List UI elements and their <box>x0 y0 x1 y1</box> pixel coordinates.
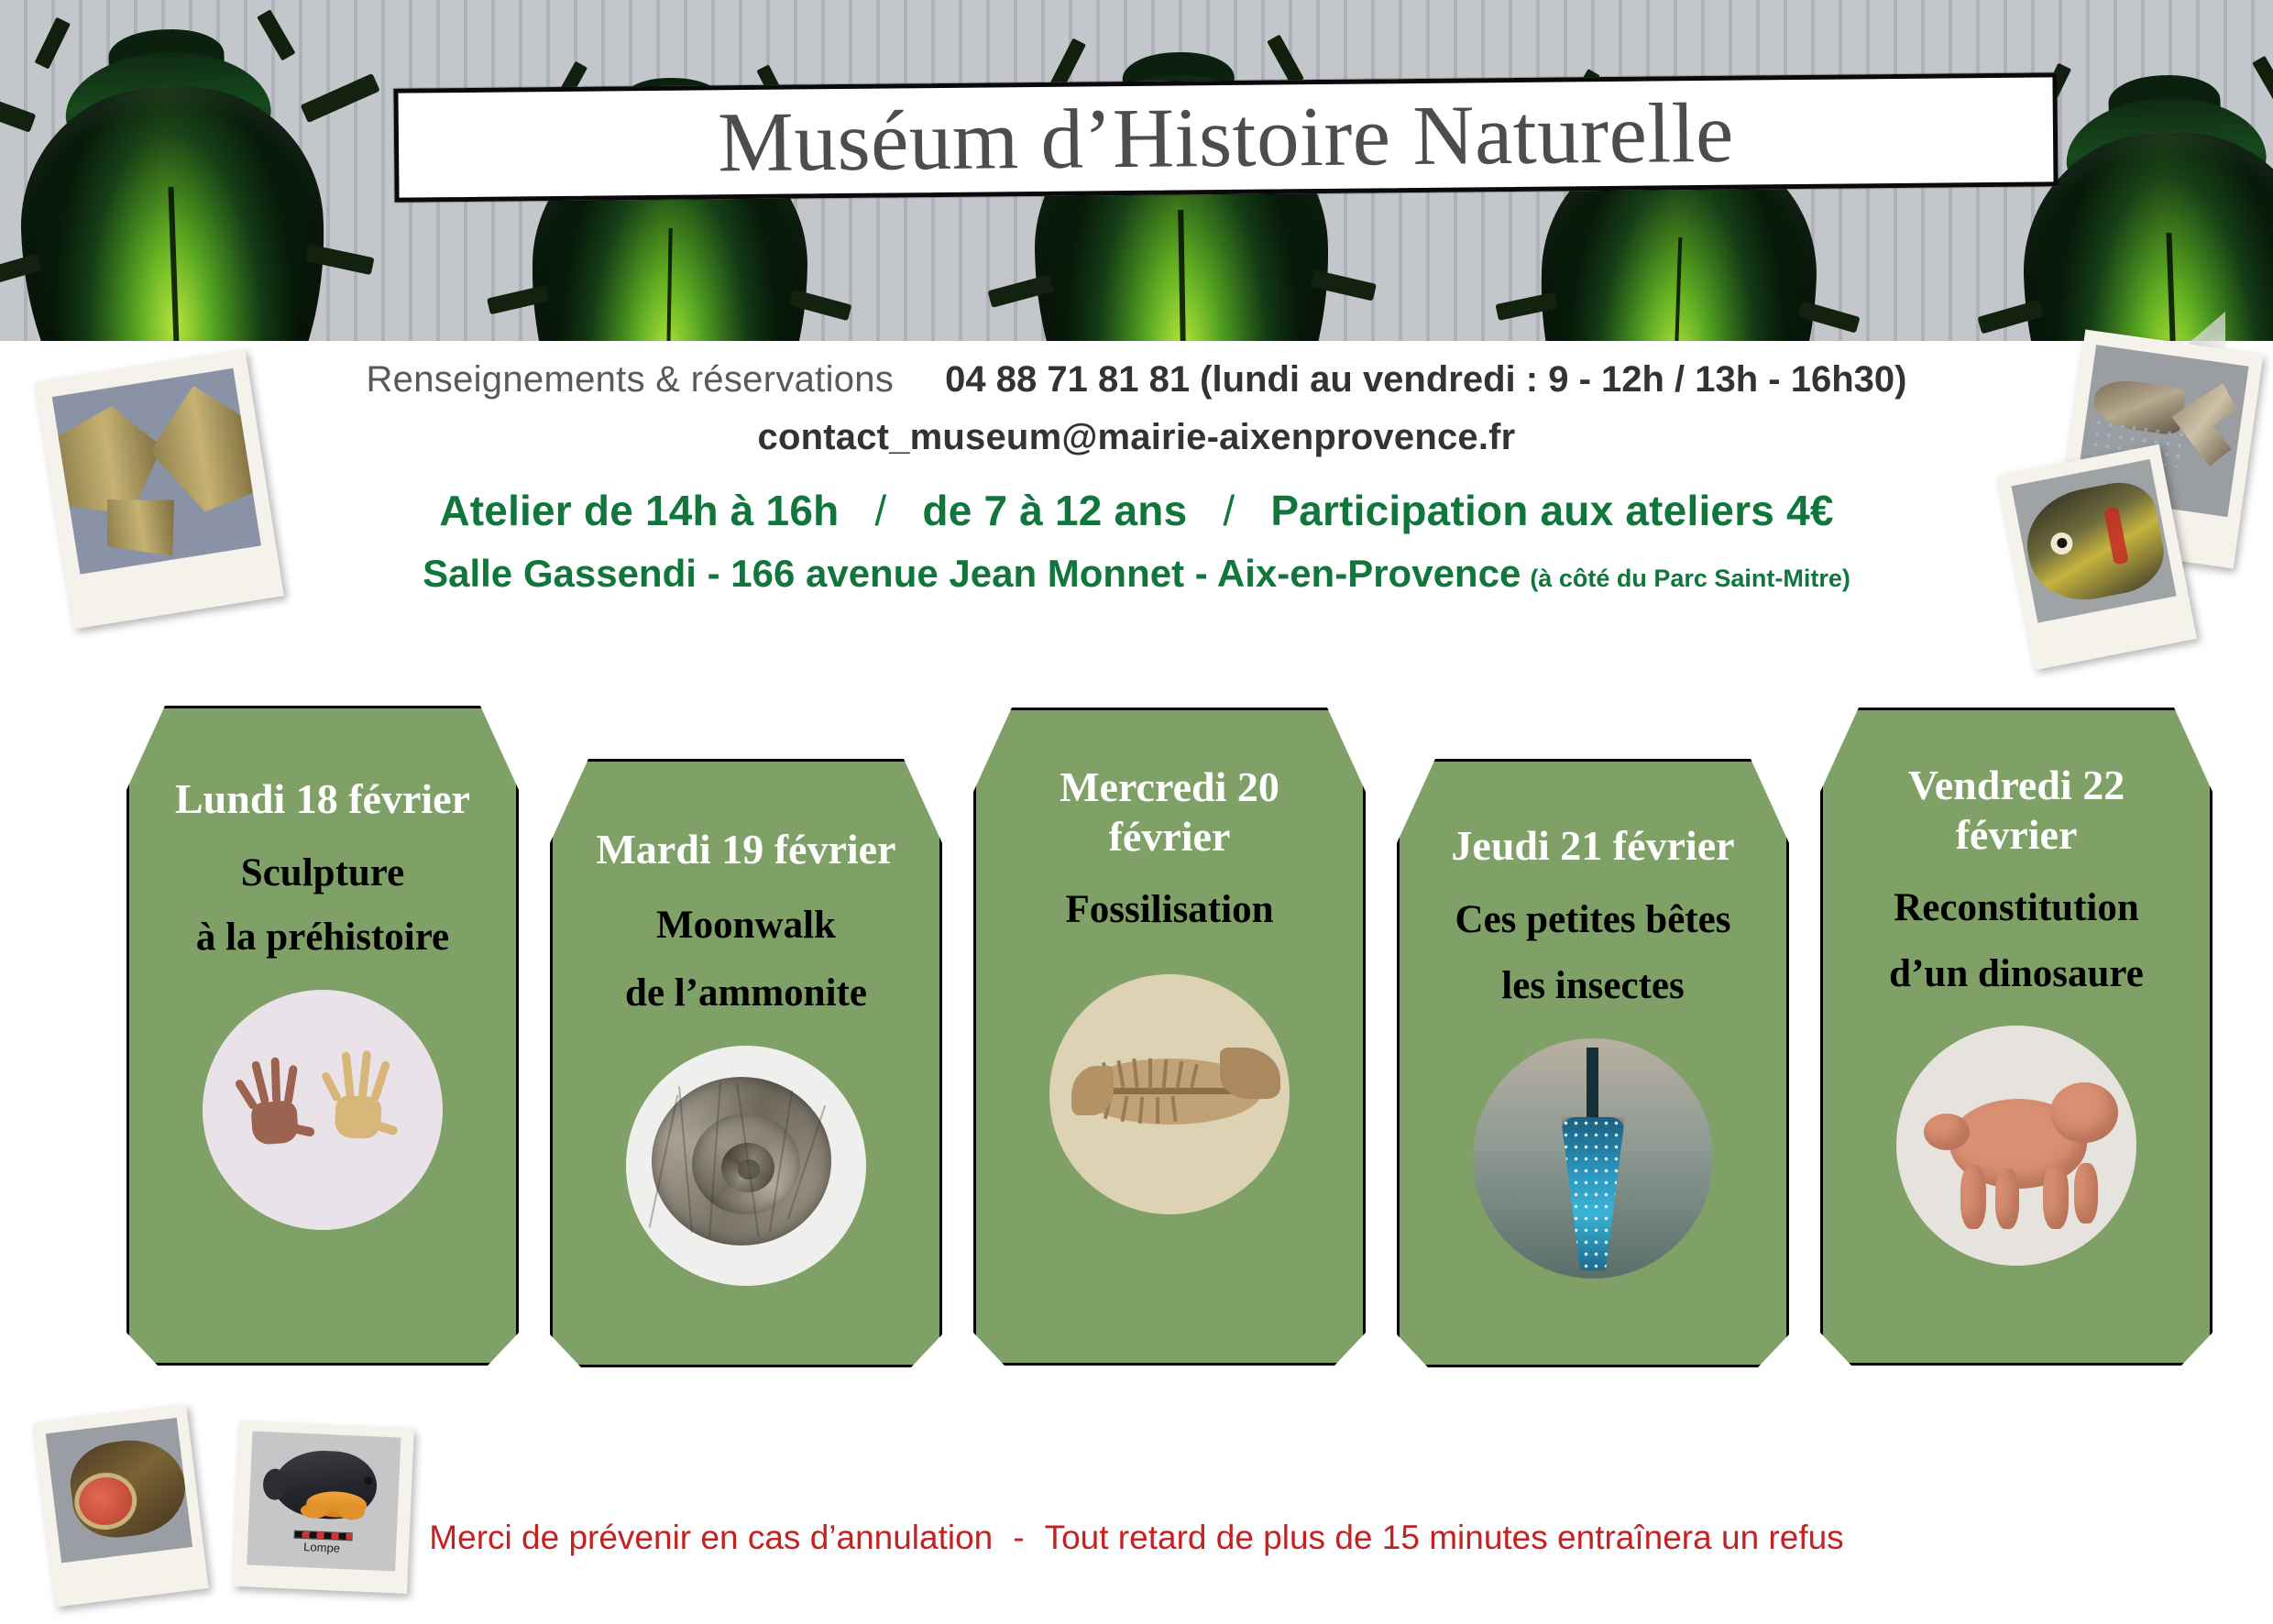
workshop-info-block: Atelier de 14h à 16h / de 7 à 12 ans / P… <box>0 486 2273 596</box>
card-date-line1: Mercredi 20 <box>973 763 1366 812</box>
card-title-line2: d’un dinosaure <box>1820 947 2213 1002</box>
prehistoric-handprints-photo <box>203 990 443 1230</box>
fish-mouth-specimen-photo <box>46 1418 192 1563</box>
piranha-head-specimen-photo <box>2011 459 2176 623</box>
card-date: Lundi 18 février <box>126 774 519 824</box>
card-title-line2: les insectes <box>1397 959 1789 1014</box>
workshop-price: Participation aux ateliers 4€ <box>1270 487 1833 534</box>
card-title-line2: à la préhistoire <box>126 910 519 965</box>
email-address[interactable]: contact_museum@mairie-aixenprovence.fr <box>0 417 2273 458</box>
workshop-cards: Lundi 18 février Sculpture à la préhisto… <box>0 0 2273 1624</box>
venue-line: Salle Gassendi - 166 avenue Jean Monnet … <box>0 552 2273 596</box>
age-range: de 7 à 12 ans <box>922 487 1187 534</box>
venue-note: (à côté du Parc Saint-Mitre) <box>1521 565 1850 592</box>
card-date-line2: février <box>973 812 1366 861</box>
polaroid-fish-tail-1 <box>35 350 284 630</box>
card-title-line1: Ces petites bêtes <box>1397 893 1789 948</box>
contact-block: Renseignements & réservations 04 88 71 8… <box>0 359 2273 458</box>
card-date-line1: Vendredi 22 <box>1820 761 2213 810</box>
contact-label: Renseignements & réservations <box>367 359 895 401</box>
polaroid-fish-mouth <box>33 1405 208 1608</box>
workshop-card-monday[interactable]: Lundi 18 février Sculpture à la préhisto… <box>126 706 519 1366</box>
workshop-time: Atelier de 14h à 16h <box>439 487 839 534</box>
card-title-line1: Fossilisation <box>973 883 1366 938</box>
separator-1: / <box>851 487 910 534</box>
footer-part-1: Merci de prévenir en cas d’annulation <box>429 1519 993 1556</box>
separator-2: / <box>1199 487 1258 534</box>
card-title-line1: Reconstitution <box>1820 881 2213 936</box>
workshop-card-tuesday[interactable]: Mardi 19 février Moonwalk de l’ammonite <box>550 759 942 1367</box>
card-title-line1: Sculpture <box>126 846 519 901</box>
card-title-line2: de l’ammonite <box>550 966 942 1021</box>
page-title: Muséum d’Histoire Naturelle <box>718 90 1734 185</box>
footer-separator: - <box>993 1519 1044 1556</box>
card-title-line1: Moonwalk <box>550 898 942 953</box>
contact-line: Renseignements & réservations 04 88 71 8… <box>0 359 2273 401</box>
workshop-details-line: Atelier de 14h à 16h / de 7 à 12 ans / P… <box>0 486 2273 535</box>
blue-insect-photo <box>1473 1038 1713 1278</box>
lumpfish-model-photo: Lompe <box>247 1432 401 1572</box>
workshop-card-wednesday[interactable]: Mercredi 20 février Fossilisation <box>973 708 1366 1366</box>
card-date: Mardi 19 février <box>550 825 942 874</box>
polaroid-caption: Lompe <box>247 1537 397 1557</box>
ammonite-fossil-photo <box>626 1046 866 1286</box>
card-date-line2: février <box>1820 810 2213 860</box>
fish-tail-specimen-1-photo <box>52 368 261 575</box>
card-date: Jeudi 21 février <box>1397 821 1789 871</box>
footer-part-2: Tout retard de plus de 15 minutes entraî… <box>1045 1519 1844 1556</box>
venue-address: Salle Gassendi - 166 avenue Jean Monnet … <box>423 552 1521 595</box>
fossil-fish-photo <box>1049 974 1290 1214</box>
museum-title-box: Muséum d’Histoire Naturelle <box>393 72 2058 202</box>
phone-and-hours: 04 88 71 81 81 (lundi au vendredi : 9 - … <box>945 359 1906 401</box>
dinosaur-model-photo <box>1896 1026 2136 1266</box>
polaroid-lumpfish: Lompe <box>233 1421 414 1594</box>
workshop-card-friday[interactable]: Vendredi 22 février Reconstitution d’un … <box>1820 708 2213 1366</box>
workshop-card-thursday[interactable]: Jeudi 21 février Ces petites bêtes les i… <box>1397 759 1789 1367</box>
